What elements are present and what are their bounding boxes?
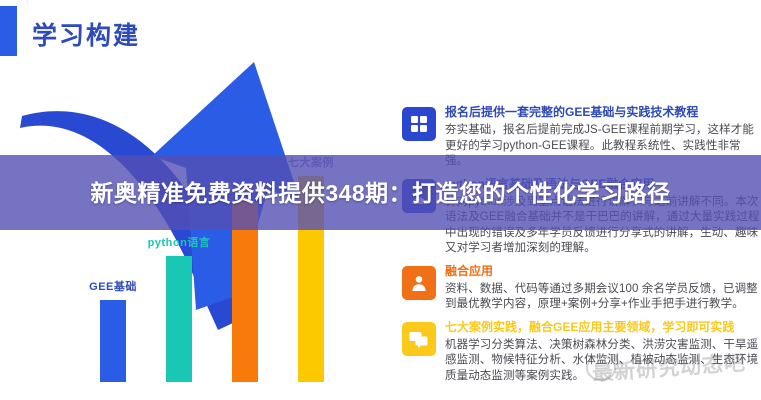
feature-body: 融合应用 资料、数据、代码等通过多期会议100 余名学员反馈，已调整到最优教学内… <box>445 263 761 313</box>
chat-icon-glyph <box>409 330 429 348</box>
feature-text: 机器学习分类算法、决策树森林分类、洪涝灾害监测、干旱遥感监测、物候特征分析、水体… <box>445 338 761 385</box>
grid-icon-glyph <box>410 115 428 133</box>
person-icon-glyph <box>410 274 428 292</box>
bar-label-python: python语言 <box>148 234 211 250</box>
feature-list: 报名后提供一套完整的GEE基础与实践技术教程 夯实基础，报名后提前完成JS-GE… <box>402 104 761 390</box>
feature-heading: 报名后提供一套完整的GEE基础与实践技术教程 <box>445 104 761 120</box>
feature-item-fusion-application: 融合应用 资料、数据、代码等通过多期会议100 余名学员反馈，已调整到最优教学内… <box>402 263 761 313</box>
feature-text: 资料、数据、代码等通过多期会议100 余名学员反馈，已调整到最优教学内容，原理+… <box>445 282 761 313</box>
chat-icon <box>402 322 436 356</box>
bar-label-gee: GEE基础 <box>89 278 137 294</box>
caption-headline: 新奥精准免费资料提供348期：打造您的个性化学习路径 <box>36 177 726 209</box>
bar-gee <box>100 300 126 382</box>
feature-heading: 融合应用 <box>445 263 761 279</box>
caption-overlay-band: 新奥精准免费资料提供348期：打造您的个性化学习路径 <box>0 155 761 230</box>
person-icon <box>402 266 436 300</box>
feature-heading: 七大案例实践，融合GEE应用主要领域，学习即可实践 <box>445 319 761 335</box>
promo-infographic-page: 学习构建 GEE基础 python语言 融合应用 七大案例 <box>0 0 761 400</box>
grid-icon <box>402 107 436 141</box>
feature-item-seven-cases: 七大案例实践，融合GEE应用主要领域，学习即可实践 机器学习分类算法、决策树森林… <box>402 319 761 385</box>
feature-body: 七大案例实践，融合GEE应用主要领域，学习即可实践 机器学习分类算法、决策树森林… <box>445 319 761 385</box>
bar-python <box>166 256 192 382</box>
